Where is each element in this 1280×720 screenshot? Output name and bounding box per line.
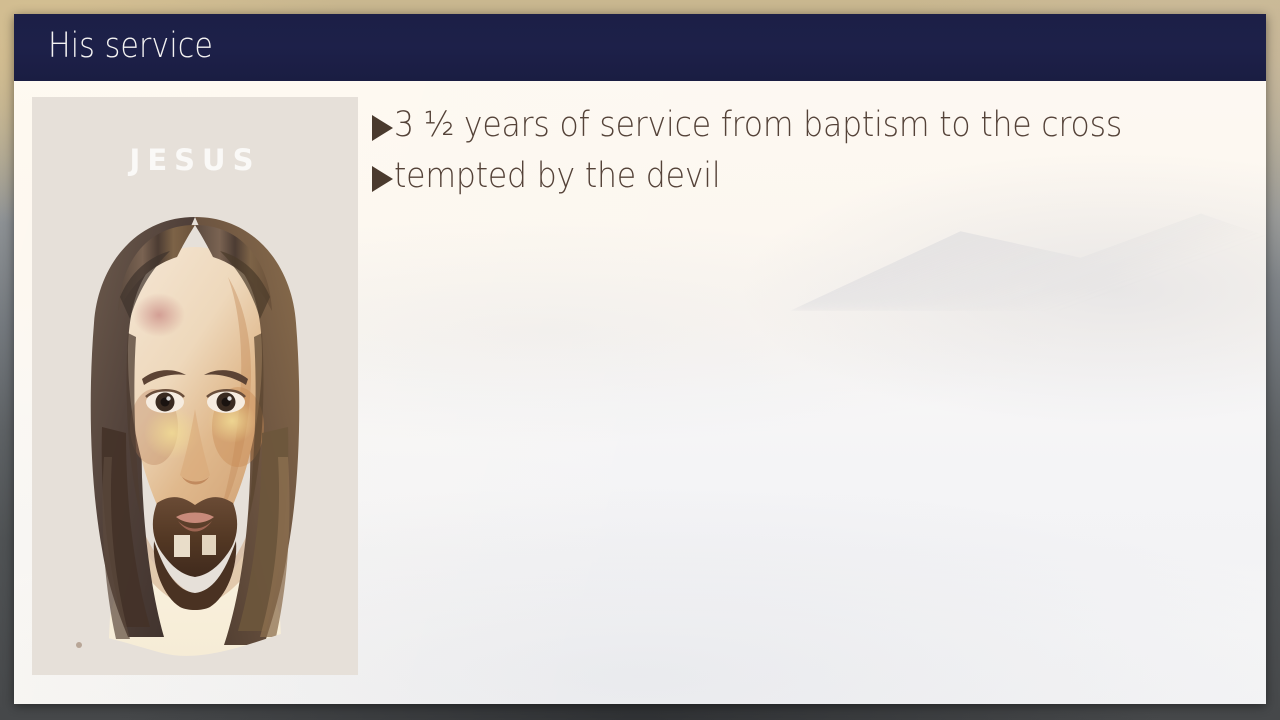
bullet-item-2-text: tempted by the devil (394, 154, 720, 199)
slide-title: His service (48, 26, 213, 66)
presentation-slide: His service (14, 14, 1266, 704)
bullet-item-1: 3 ½ years of service from baptism to the… (372, 103, 1242, 148)
picture-caption-jesus: Jesus (32, 131, 358, 180)
slide-title-bar: His service (14, 14, 1266, 81)
triangle-bullet-icon (372, 115, 393, 141)
slide-content: Jesus 3 ½ years of service from baptism … (14, 81, 1266, 704)
bullet-item-1-text: 3 ½ years of service from baptism to the… (394, 103, 1122, 148)
slide-viewer: His service (0, 0, 1280, 720)
bullet-list: 3 ½ years of service from baptism to the… (372, 103, 1242, 205)
watercolor-portrait-graphic (32, 97, 358, 675)
bullet-item-2: tempted by the devil (372, 154, 1242, 199)
jesus-portrait-image: Jesus (32, 97, 358, 675)
triangle-bullet-icon (372, 166, 393, 192)
